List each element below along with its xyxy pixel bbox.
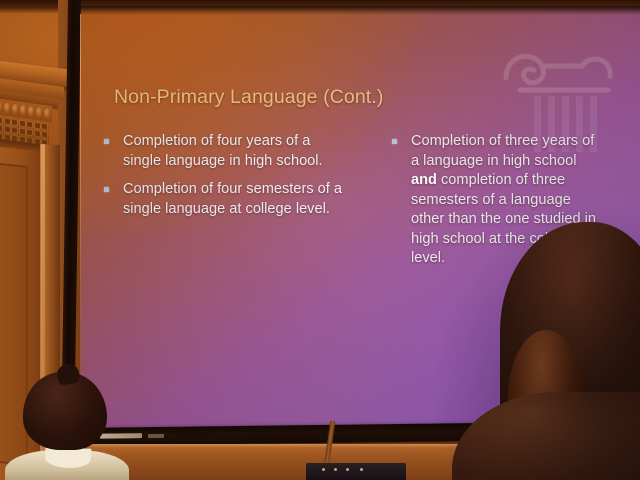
slide-title: Non-Primary Language (Cont.) (114, 86, 383, 109)
slide-column-left: Completion of four years of a single lan… (101, 132, 346, 228)
device-indicator-lights (322, 468, 368, 471)
bullet-square-icon (104, 139, 109, 144)
photo-scene: Non-Primary Language (Cont.) Completion … (0, 0, 640, 480)
screen-top-shadow (81, 6, 640, 15)
list-item: Completion of four semesters of a single… (101, 180, 346, 219)
list-item: Completion of four years of a single lan… (101, 132, 346, 171)
valance-label-mark (148, 434, 164, 438)
bullet-square-icon (392, 139, 397, 144)
bullet-text: Completion of four semesters of a single… (123, 180, 346, 219)
bullet-text: Completion of four years of a single lan… (123, 132, 346, 171)
laptop-device (306, 463, 406, 480)
audience-front-left (5, 372, 125, 480)
bullet-square-icon (104, 187, 109, 192)
